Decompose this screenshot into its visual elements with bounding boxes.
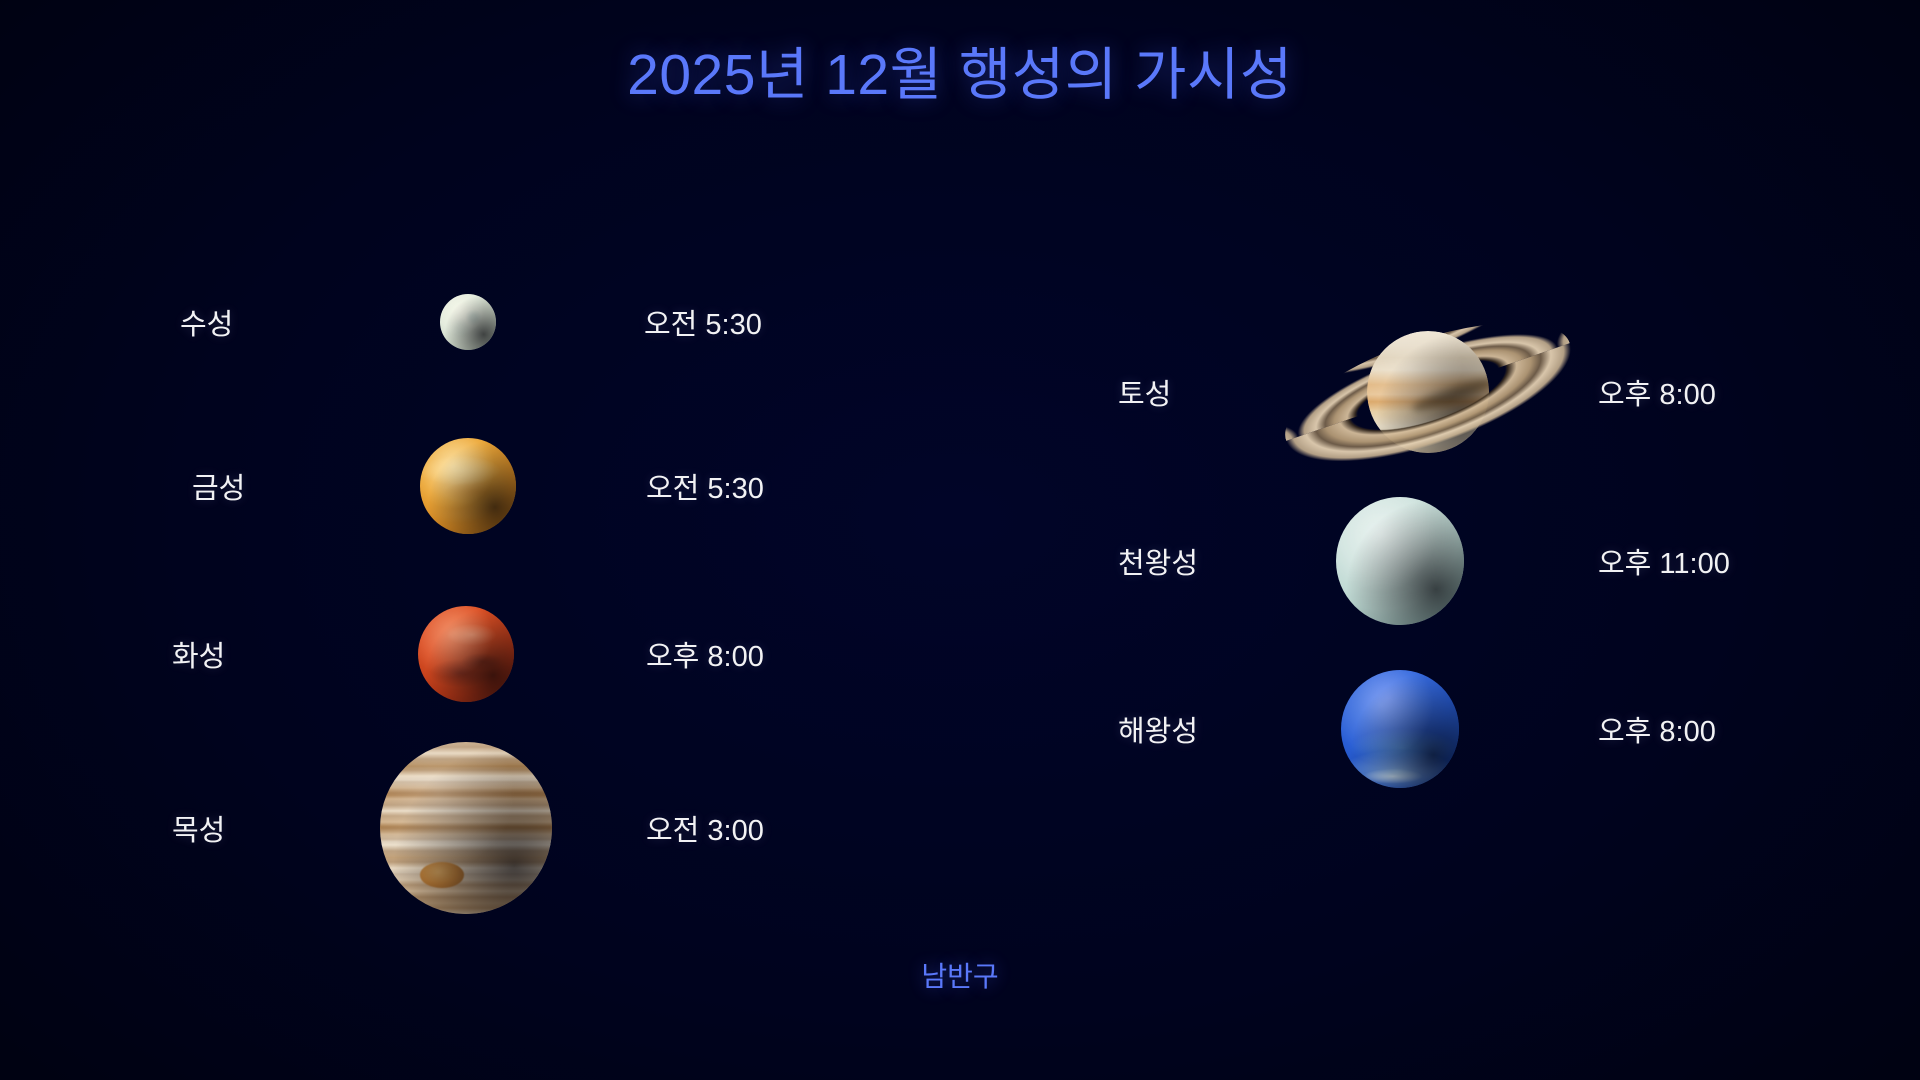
planet-time-mars: 오후 8:00: [646, 633, 764, 675]
page-title: 2025년 12월 행성의 가시성: [0, 44, 1920, 107]
planet-venus-icon: [420, 438, 516, 534]
planet-mars-icon: [418, 606, 514, 702]
planet-visibility-infographic: 2025년 12월 행성의 가시성 수성 오전 5:30 금성 오전 5:30 …: [0, 0, 1920, 1080]
planet-time-uranus: 오후 11:00: [1598, 540, 1730, 582]
planet-name-mars: 화성: [172, 633, 225, 675]
planet-mercury-icon: [440, 294, 496, 350]
planet-time-jupiter: 오전 3:00: [646, 807, 764, 849]
planet-name-jupiter: 목성: [172, 807, 225, 849]
planet-uranus-icon: [1336, 497, 1464, 625]
hemisphere-label: 남반구: [0, 955, 1920, 995]
planet-neptune-icon: [1341, 670, 1459, 788]
planet-saturn-icon: [1278, 312, 1578, 472]
planet-jupiter-icon: [380, 742, 552, 914]
planet-time-saturn: 오후 8:00: [1598, 371, 1716, 413]
planet-name-uranus: 천왕성: [1118, 540, 1198, 582]
planet-name-saturn: 토성: [1118, 371, 1171, 413]
planet-name-mercury: 수성: [180, 301, 233, 343]
planet-time-venus: 오전 5:30: [646, 465, 764, 507]
planet-name-venus: 금성: [192, 465, 245, 507]
planet-time-neptune: 오후 8:00: [1598, 708, 1716, 750]
planet-time-mercury: 오전 5:30: [644, 301, 762, 343]
planet-name-neptune: 해왕성: [1118, 708, 1198, 750]
